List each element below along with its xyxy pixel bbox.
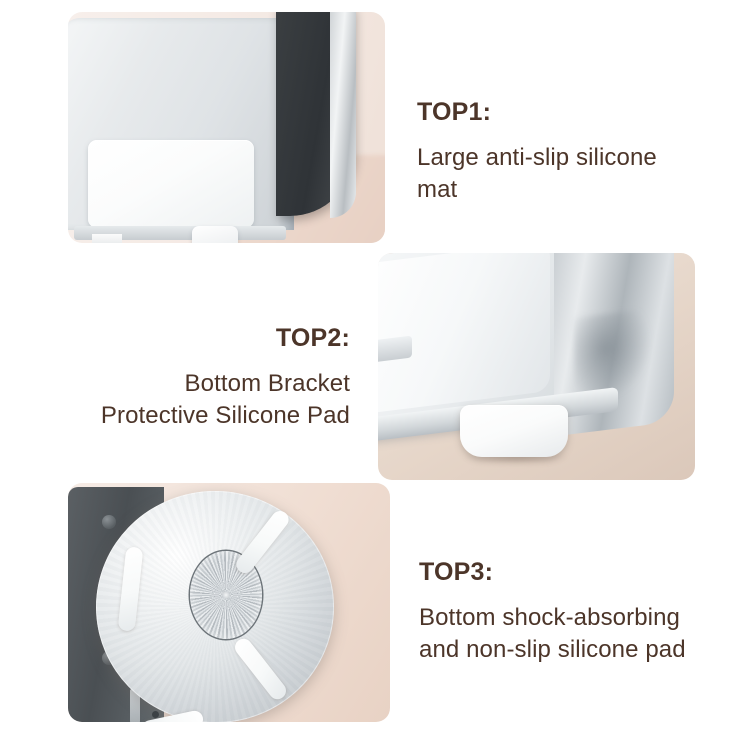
feature-photo-top3 — [68, 483, 390, 722]
screw-upper — [102, 515, 116, 529]
stand-inner-face — [378, 253, 550, 415]
feature-description-top1-line2: mat — [417, 174, 717, 206]
feature-caption-top3: TOP3: Bottom shock-absorbing and non-sli… — [419, 556, 731, 666]
feature-label-top3: TOP3: — [419, 556, 731, 590]
stand-foot-left — [92, 234, 122, 243]
feature-description-top3-line1: Bottom shock-absorbing — [419, 602, 731, 634]
stand-foot-center — [192, 226, 238, 243]
base-port-dot — [152, 711, 159, 718]
feature-description-top2-line2: Protective Silicone Pad — [22, 400, 350, 432]
protective-silicone-pad — [460, 405, 568, 457]
feature-label-top1: TOP1: — [417, 96, 717, 130]
feature-description-top3: Bottom shock-absorbing and non-slip sili… — [419, 602, 731, 666]
feature-caption-top1: TOP1: Large anti-slip silicone mat — [417, 96, 717, 206]
feature-description-top3-line2: and non-slip silicone pad — [419, 634, 731, 666]
feature-photo-top2 — [378, 253, 695, 480]
feature-description-top1-line1: Large anti-slip silicone — [417, 142, 717, 174]
laptop-lid-rim — [330, 12, 356, 218]
anti-slip-silicone-mat — [88, 140, 254, 228]
feature-description-top1: Large anti-slip silicone mat — [417, 142, 717, 206]
feature-description-top2-line1: Bottom Bracket — [22, 368, 350, 400]
feature-description-top2: Bottom Bracket Protective Silicone Pad — [22, 368, 350, 432]
feature-caption-top2: TOP2: Bottom Bracket Protective Silicone… — [22, 322, 350, 432]
feature-label-top2: TOP2: — [22, 322, 350, 356]
feature-photo-top1 — [68, 12, 385, 243]
